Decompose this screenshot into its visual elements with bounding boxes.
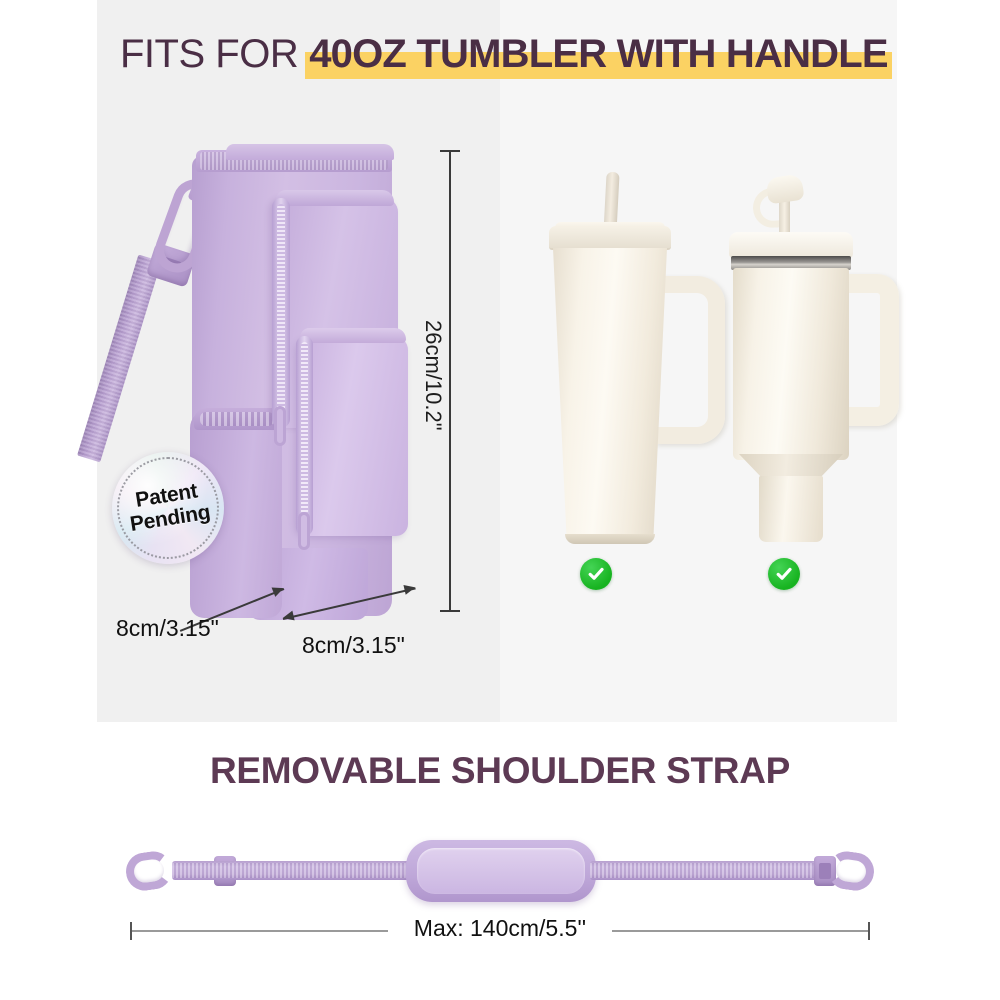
headline-plain-text: FITS FOR [120, 34, 298, 74]
tumbler-tapered-base [565, 534, 655, 544]
bottle-carrier-bag-illustration [130, 140, 450, 640]
tumbler-handled-lid [729, 232, 853, 258]
bag-top-opening [226, 144, 394, 160]
bag-small-pocket-flap [300, 328, 406, 343]
bag-large-pocket-zipper [272, 198, 290, 428]
patent-pending-badge: Patent Pending [112, 452, 224, 564]
bag-small-zip-pocket [298, 336, 408, 536]
tumbler-tapered-lid [549, 226, 671, 250]
headline: FITS FOR 40OZ TUMBLER WITH HANDLE [120, 28, 888, 80]
strap-max-length-label: Max: 140cm/5.5'' [0, 915, 1000, 942]
headline-emphasis-text: 40OZ TUMBLER WITH HANDLE [309, 32, 888, 76]
headline-highlight-wrap: 40OZ TUMBLER WITH HANDLE [309, 34, 888, 74]
depth-dimension-label: 8cm/3.15" [302, 632, 405, 659]
strap-webbing-right [590, 861, 820, 880]
tumbler-tapered [533, 170, 713, 550]
check-circle-icon-tumbler-1 [580, 558, 612, 590]
strap-webbing-left [172, 861, 414, 880]
strap-shoulder-pad [406, 840, 596, 902]
tumbler-handled-straw-cap [765, 174, 804, 205]
tumbler-handled [713, 170, 898, 550]
height-dimension-line [449, 150, 451, 612]
compatible-tumblers-illustration [505, 170, 895, 570]
strap-swivel-hook-left-icon [124, 849, 175, 893]
tumbler-tapered-body [553, 248, 667, 540]
strap-swivel-hook-right-icon [826, 849, 877, 893]
width-dimension-label: 8cm/3.15" [116, 615, 219, 642]
bag-small-zipper-pull-icon [298, 512, 310, 550]
tumbler-handled-base [759, 476, 823, 542]
tumbler-handled-body [733, 268, 849, 460]
bag-large-pocket-flap [276, 190, 394, 206]
patent-pending-badge-text: Patent Pending [125, 479, 212, 536]
height-dimension-label: 26cm/10.2" [420, 320, 446, 431]
bag-large-zipper-pull-icon [274, 406, 286, 446]
infographic-root: FITS FOR 40OZ TUMBLER WITH HANDLE Patent [0, 0, 1000, 1000]
bag-small-pocket-zipper [296, 336, 313, 536]
bag-elastic-band [194, 408, 280, 430]
check-circle-icon-tumbler-2 [768, 558, 800, 590]
shoulder-strap-section-title: REMOVABLE SHOULDER STRAP [0, 750, 1000, 792]
shoulder-strap-illustration [110, 830, 890, 915]
